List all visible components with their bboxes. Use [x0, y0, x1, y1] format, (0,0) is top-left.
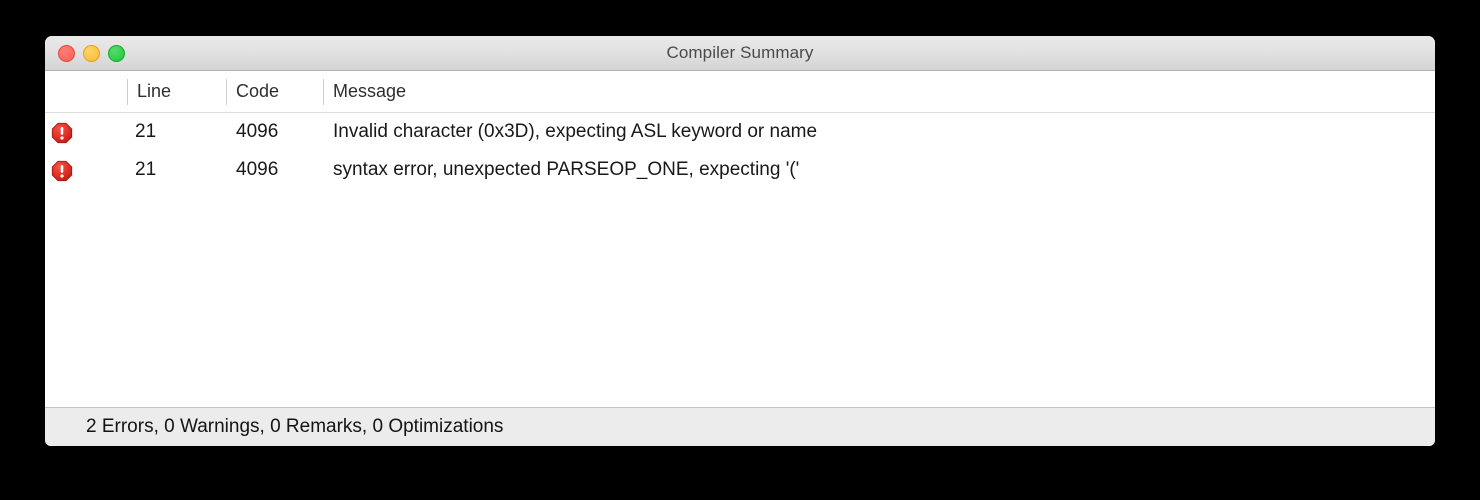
- maximize-button[interactable]: [108, 45, 125, 62]
- minimize-button[interactable]: [83, 45, 100, 62]
- table-row[interactable]: 21 4096 syntax error, unexpected PARSEOP…: [45, 151, 1435, 189]
- error-icon: [51, 160, 73, 182]
- status-summary-text: 2 Errors, 0 Warnings, 0 Remarks, 0 Optim…: [86, 416, 503, 438]
- table-row[interactable]: 21 4096 Invalid character (0x3D), expect…: [45, 113, 1435, 151]
- close-button[interactable]: [58, 45, 75, 62]
- error-icon: [51, 122, 73, 144]
- column-divider-2[interactable]: [226, 79, 227, 105]
- window-titlebar[interactable]: Compiler Summary: [45, 36, 1435, 71]
- diagnostics-list: 21 4096 Invalid character (0x3D), expect…: [45, 113, 1435, 407]
- column-header-message[interactable]: Message: [333, 71, 406, 112]
- cell-code: 4096: [236, 151, 278, 189]
- column-header-line[interactable]: Line: [137, 71, 171, 112]
- cell-line: 21: [135, 151, 156, 189]
- window-controls: [58, 36, 125, 70]
- column-divider-1[interactable]: [127, 79, 128, 105]
- status-bar: 2 Errors, 0 Warnings, 0 Remarks, 0 Optim…: [45, 407, 1435, 446]
- compiler-summary-window: Compiler Summary Line Code Message: [45, 36, 1435, 446]
- table-column-header: Line Code Message: [45, 71, 1435, 113]
- column-divider-3[interactable]: [323, 79, 324, 105]
- column-header-code[interactable]: Code: [236, 71, 279, 112]
- cell-line: 21: [135, 113, 156, 151]
- cell-code: 4096: [236, 113, 278, 151]
- cell-message: Invalid character (0x3D), expecting ASL …: [333, 113, 817, 151]
- cell-message: syntax error, unexpected PARSEOP_ONE, ex…: [333, 151, 799, 189]
- window-title: Compiler Summary: [45, 43, 1435, 63]
